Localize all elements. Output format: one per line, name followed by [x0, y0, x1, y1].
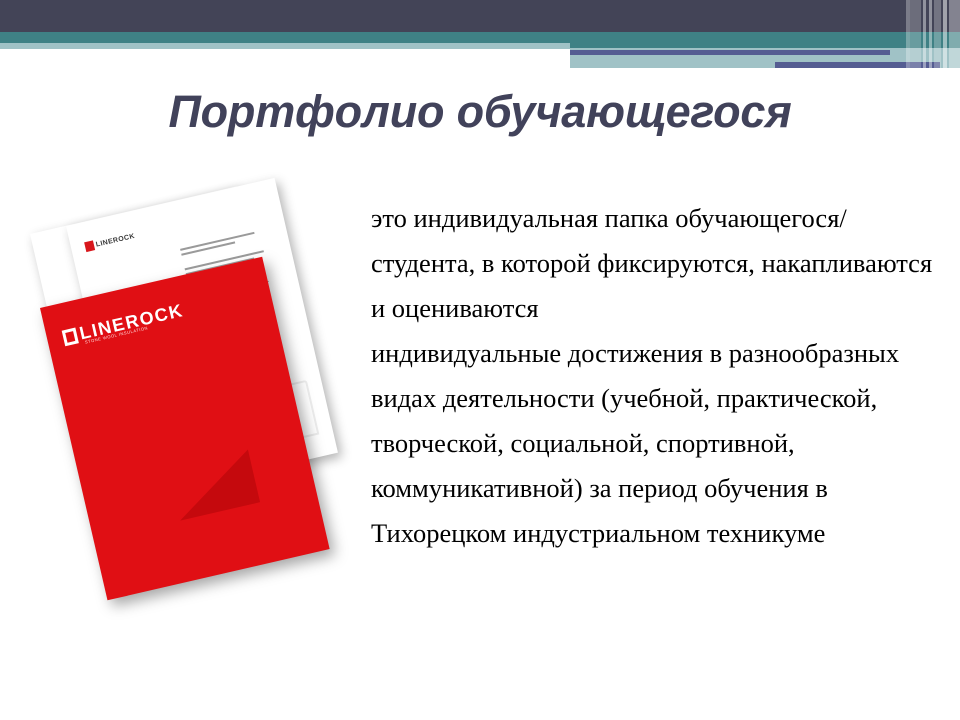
header-vertical-stripe-2	[910, 0, 921, 68]
slide-body-text: это индивидуальная папка обучающегося/ст…	[371, 196, 949, 556]
header-light-teal-band	[0, 43, 570, 49]
header-dark-band	[0, 0, 960, 32]
header-vertical-stripe-7	[949, 0, 960, 68]
folder-brand-logo: LINEROCK STONE WOOL INSULATION	[61, 300, 186, 348]
letterhead-logo-label: LINEROCK	[95, 232, 135, 248]
slide-title: Портфолио обучающегося	[0, 86, 960, 138]
header-teal-band-right	[570, 32, 960, 48]
folder-illustration: LINEROCK	[22, 222, 362, 622]
header-vertical-stripe-5	[934, 0, 941, 68]
body-paragraph-2: индивидуальные достижения в разнообразны…	[371, 331, 949, 556]
header-blue-rule-upper	[570, 50, 890, 55]
linerock-mark-icon-large	[62, 327, 79, 346]
header-vertical-stripe-4	[929, 0, 932, 68]
header-vertical-stripe-6	[943, 0, 947, 68]
linerock-mark-icon	[84, 240, 95, 252]
slide-canvas: Портфолио обучающегося LINEROCK	[0, 0, 960, 720]
header-vertical-stripe-3	[923, 0, 926, 68]
letterhead-logo: LINEROCK	[84, 231, 136, 252]
body-paragraph-1: это индивидуальная папка обучающегося/ст…	[371, 196, 949, 331]
